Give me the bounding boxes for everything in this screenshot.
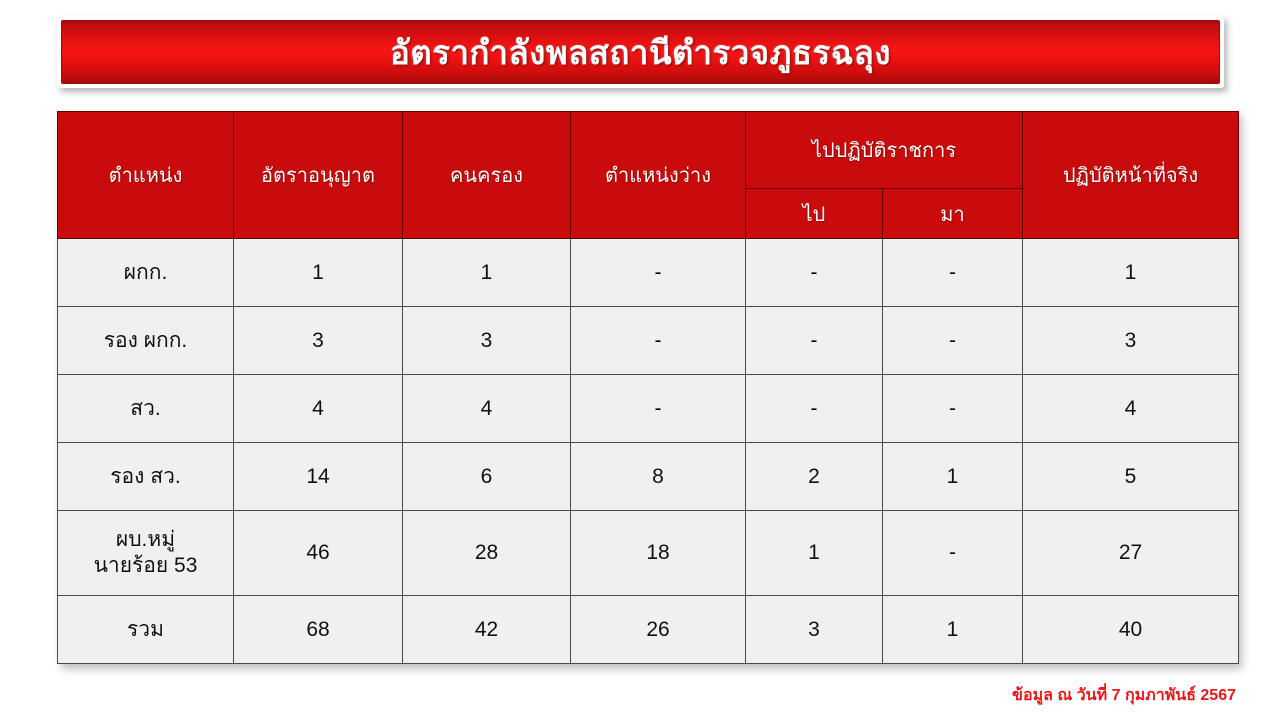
table-row[interactable]: รอง ผกก. 3 3 - - - 3 [58, 307, 1239, 375]
title-banner-inner: อัตรากำลังพลสถานีตำรวจภูธรฉลุง [61, 20, 1220, 84]
table-row[interactable]: รอง สว. 14 6 8 2 1 5 [58, 443, 1239, 511]
cell-detached-out: 1 [746, 511, 883, 596]
cell-authorized: 3 [234, 307, 403, 375]
cell-position: รวม [58, 596, 234, 664]
cell-vacant: 18 [571, 511, 746, 596]
cell-detached-out: - [746, 375, 883, 443]
cell-position-line1: ผบ.หมู่ [58, 527, 233, 553]
cell-detached-out: 2 [746, 443, 883, 511]
cell-authorized: 14 [234, 443, 403, 511]
cell-detached-out: - [746, 307, 883, 375]
staffing-table-wrapper: ตำแหน่ง อัตราอนุญาต คนครอง ตำแหน่งว่าง ไ… [57, 111, 1238, 664]
column-header-authorized[interactable]: อัตราอนุญาต [234, 112, 403, 239]
cell-detached-in: - [883, 307, 1023, 375]
column-header-held[interactable]: คนครอง [403, 112, 571, 239]
title-banner: อัตรากำลังพลสถานีตำรวจภูธรฉลุง [57, 16, 1224, 88]
staffing-table: ตำแหน่ง อัตราอนุญาต คนครอง ตำแหน่งว่าง ไ… [57, 111, 1239, 664]
cell-authorized: 4 [234, 375, 403, 443]
cell-held: 6 [403, 443, 571, 511]
table-row[interactable]: ผบ.หมู่ นายร้อย 53 46 28 18 1 - 27 [58, 511, 1239, 596]
table-header: ตำแหน่ง อัตราอนุญาต คนครอง ตำแหน่งว่าง ไ… [58, 112, 1239, 239]
column-header-actual-duty[interactable]: ปฏิบัติหน้าที่จริง [1023, 112, 1239, 239]
slide-canvas: อัตรากำลังพลสถานีตำรวจภูธรฉลุง ตำแหน่ง อ… [0, 0, 1280, 720]
cell-actual-duty: 27 [1023, 511, 1239, 596]
cell-position: รอง สว. [58, 443, 234, 511]
cell-position: รอง ผกก. [58, 307, 234, 375]
cell-position: ผกก. [58, 239, 234, 307]
column-header-position[interactable]: ตำแหน่ง [58, 112, 234, 239]
cell-authorized: 68 [234, 596, 403, 664]
column-header-detached-out[interactable]: ไป [746, 189, 883, 239]
cell-detached-out: 3 [746, 596, 883, 664]
cell-held: 42 [403, 596, 571, 664]
page-title: อัตรากำลังพลสถานีตำรวจภูธรฉลุง [390, 36, 891, 69]
column-header-vacant[interactable]: ตำแหน่งว่าง [571, 112, 746, 239]
cell-actual-duty: 3 [1023, 307, 1239, 375]
cell-position-line2: นายร้อย 53 [58, 553, 233, 579]
cell-detached-in: - [883, 375, 1023, 443]
cell-held: 28 [403, 511, 571, 596]
cell-vacant: - [571, 239, 746, 307]
cell-vacant: 26 [571, 596, 746, 664]
cell-detached-in: 1 [883, 596, 1023, 664]
cell-vacant: - [571, 307, 746, 375]
column-header-detached-group[interactable]: ไปปฏิบัติราชการ [746, 112, 1023, 189]
data-as-of-note: ข้อมูล ณ วันที่ 7 กุมภาพันธ์ 2567 [1012, 683, 1236, 708]
cell-actual-duty: 4 [1023, 375, 1239, 443]
cell-position: ผบ.หมู่ นายร้อย 53 [58, 511, 234, 596]
cell-actual-duty: 40 [1023, 596, 1239, 664]
cell-detached-in: 1 [883, 443, 1023, 511]
cell-detached-in: - [883, 239, 1023, 307]
cell-position: สว. [58, 375, 234, 443]
cell-detached-in: - [883, 511, 1023, 596]
cell-held: 3 [403, 307, 571, 375]
cell-detached-out: - [746, 239, 883, 307]
column-header-detached-in[interactable]: มา [883, 189, 1023, 239]
table-row[interactable]: ผกก. 1 1 - - - 1 [58, 239, 1239, 307]
cell-authorized: 1 [234, 239, 403, 307]
table-row[interactable]: สว. 4 4 - - - 4 [58, 375, 1239, 443]
table-row-total[interactable]: รวม 68 42 26 3 1 40 [58, 596, 1239, 664]
cell-held: 1 [403, 239, 571, 307]
cell-vacant: - [571, 375, 746, 443]
cell-held: 4 [403, 375, 571, 443]
cell-authorized: 46 [234, 511, 403, 596]
table-header-row-primary: ตำแหน่ง อัตราอนุญาต คนครอง ตำแหน่งว่าง ไ… [58, 112, 1239, 189]
cell-vacant: 8 [571, 443, 746, 511]
cell-actual-duty: 1 [1023, 239, 1239, 307]
table-body: ผกก. 1 1 - - - 1 รอง ผกก. 3 3 - - - 3 [58, 239, 1239, 664]
cell-actual-duty: 5 [1023, 443, 1239, 511]
